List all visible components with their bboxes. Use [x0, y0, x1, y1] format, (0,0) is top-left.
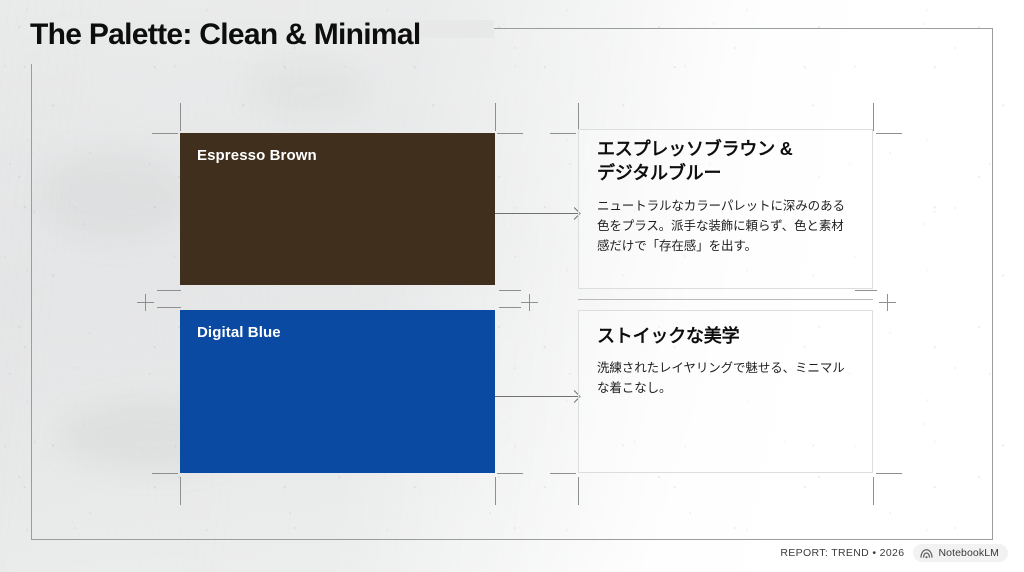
- crop-tick-horizontal: [876, 133, 902, 134]
- panel-heading-line-2: デジタルブルー: [597, 163, 721, 183]
- crop-tick-vertical: [578, 477, 579, 505]
- registration-cross: [879, 294, 896, 311]
- swatch-label: Digital Blue: [197, 324, 281, 341]
- crop-tick-horizontal: [157, 307, 181, 308]
- color-swatch-digital-blue[interactable]: Digital Blue: [180, 310, 495, 473]
- notebooklm-logo-icon: [920, 548, 933, 559]
- crop-tick-horizontal: [550, 133, 576, 134]
- crop-tick-horizontal: [152, 133, 178, 134]
- color-swatch-espresso-brown[interactable]: Espresso Brown: [180, 133, 495, 285]
- crop-tick-vertical: [180, 477, 181, 505]
- crop-tick-vertical: [495, 103, 496, 131]
- text-panel-palette: エスプレッソブラウン &デジタルブルー ニュートラルなカラーパレットに深みのある…: [578, 129, 873, 289]
- crop-tick-vertical: [495, 477, 496, 505]
- crop-tick-horizontal: [497, 473, 523, 474]
- crop-tick-vertical: [180, 103, 181, 131]
- panel-body: ニュートラルなカラーパレットに深みのある色をプラス。派手な装飾に頼らず、色と素材…: [579, 186, 872, 257]
- notebooklm-badge: NotebookLM: [913, 544, 1008, 562]
- footer: REPORT: TREND • 2026 NotebookLM: [780, 544, 1008, 562]
- background-smudge: [40, 150, 190, 240]
- crop-tick-horizontal: [855, 290, 877, 291]
- crop-tick-horizontal: [499, 307, 521, 308]
- notebooklm-label: NotebookLM: [938, 547, 999, 559]
- panel-heading: ストイックな美学: [579, 311, 872, 349]
- crop-tick-horizontal: [499, 290, 521, 291]
- report-label: REPORT: TREND • 2026: [780, 547, 904, 559]
- crop-tick-horizontal: [497, 133, 523, 134]
- crop-tick-vertical: [578, 103, 579, 131]
- panel-divider: [578, 299, 873, 300]
- crop-tick-horizontal: [876, 473, 902, 474]
- registration-cross: [137, 294, 154, 311]
- crop-tick-vertical: [873, 477, 874, 505]
- arrow-right-icon: [495, 213, 578, 214]
- crop-tick-vertical: [873, 103, 874, 131]
- crop-tick-horizontal: [550, 473, 576, 474]
- panel-heading: エスプレッソブラウン &デジタルブルー: [579, 130, 872, 186]
- text-panel-aesthetic: ストイックな美学 洗練されたレイヤリングで魅せる、ミニマルな着こなし。: [578, 310, 873, 473]
- registration-cross: [521, 294, 538, 311]
- crop-tick-horizontal: [152, 473, 178, 474]
- background-smudge: [250, 60, 370, 120]
- arrow-right-icon: [495, 396, 578, 397]
- page-title: The Palette: Clean & Minimal: [30, 18, 420, 52]
- panel-body: 洗練されたレイヤリングで魅せる、ミニマルな着こなし。: [579, 349, 872, 399]
- swatch-label: Espresso Brown: [197, 147, 317, 164]
- slide-canvas: The Palette: Clean & Minimal Espresso Br…: [0, 0, 1024, 572]
- crop-tick-horizontal: [157, 290, 181, 291]
- panel-heading-line-1: エスプレッソブラウン &: [597, 139, 793, 159]
